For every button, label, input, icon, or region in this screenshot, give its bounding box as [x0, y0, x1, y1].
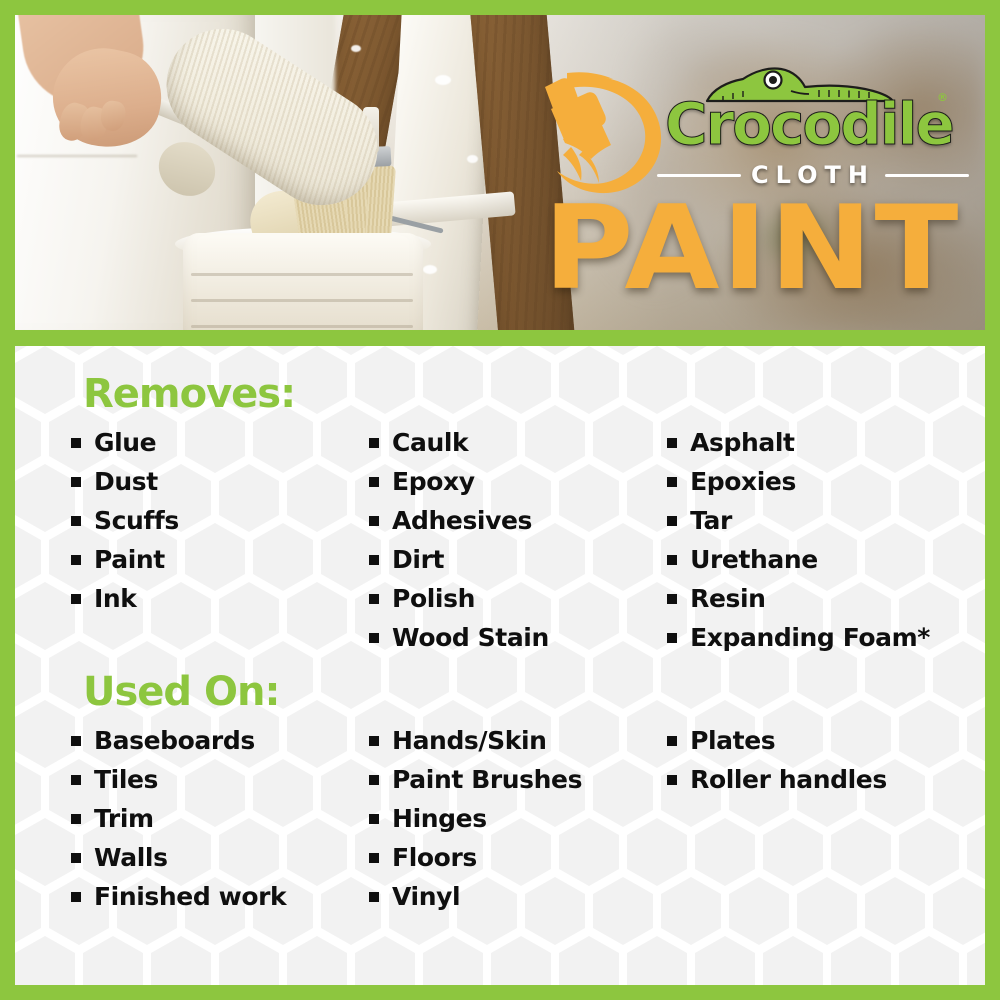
honeycomb-hex: [355, 953, 415, 985]
paint-splatter: [435, 75, 451, 85]
square-bullet-icon: [71, 555, 81, 565]
paint-splatter: [351, 45, 361, 52]
honeycomb-hex: [695, 953, 755, 985]
hero-banner: Crocodile ® CLOTH PAINT: [15, 15, 985, 330]
list-item-label: Hands/Skin: [392, 726, 547, 756]
section-removes: Removes:GlueDustScuffsPaintInkCaulkEpoxy…: [71, 370, 985, 662]
list-item: Dust: [71, 467, 369, 497]
crocodile-wordmark: Crocodile ® CLOTH: [665, 67, 965, 192]
section-columns: GlueDustScuffsPaintInkCaulkEpoxyAdhesive…: [71, 428, 985, 662]
square-bullet-icon: [71, 775, 81, 785]
honeycomb-hex: [831, 953, 891, 985]
list-item-label: Roller handles: [690, 765, 887, 795]
square-bullet-icon: [369, 594, 379, 604]
list-item-label: Trim: [94, 804, 154, 834]
product-title: PAINT: [514, 191, 986, 307]
list-item-label: Tar: [690, 506, 732, 536]
honeycomb-hex: [219, 953, 279, 985]
square-bullet-icon: [369, 633, 379, 643]
list-item: Floors: [369, 843, 667, 873]
list-item: Hinges: [369, 804, 667, 834]
list-item-label: Glue: [94, 428, 156, 458]
list-item: Paint Brushes: [369, 765, 667, 795]
rule-left: [657, 174, 741, 177]
list-item: Walls: [71, 843, 369, 873]
honeycomb-hex: [559, 953, 619, 985]
list-item: Ink: [71, 584, 369, 614]
square-bullet-icon: [667, 775, 677, 785]
list-item-label: Walls: [94, 843, 168, 873]
paint-bucket: [183, 233, 423, 330]
bucket-ring: [191, 273, 413, 276]
square-bullet-icon: [667, 555, 677, 565]
bucket-ring: [191, 325, 413, 328]
list-column: Hands/SkinPaint BrushesHingesFloorsVinyl: [369, 726, 667, 921]
list-item-label: Resin: [690, 584, 765, 614]
list-item: Vinyl: [369, 882, 667, 912]
list-item: Urethane: [667, 545, 985, 575]
list-item: Caulk: [369, 428, 667, 458]
list-item: Trim: [71, 804, 369, 834]
honeycomb-hex: [899, 953, 959, 985]
square-bullet-icon: [667, 438, 677, 448]
list-item: Asphalt: [667, 428, 985, 458]
square-bullet-icon: [369, 775, 379, 785]
honeycomb-hex: [83, 953, 143, 985]
square-bullet-icon: [667, 736, 677, 746]
square-bullet-icon: [667, 594, 677, 604]
honeycomb-hex: [287, 953, 347, 985]
square-bullet-icon: [369, 814, 379, 824]
content-panel: Removes:GlueDustScuffsPaintInkCaulkEpoxy…: [15, 346, 985, 985]
square-bullet-icon: [71, 736, 81, 746]
list-item: Resin: [667, 584, 985, 614]
brand-name: Crocodile: [665, 95, 965, 153]
square-bullet-icon: [667, 477, 677, 487]
list-item-label: Vinyl: [392, 882, 460, 912]
list-item-label: Baseboards: [94, 726, 255, 756]
honeycomb-hex: [15, 953, 75, 985]
square-bullet-icon: [71, 516, 81, 526]
list-item-label: Asphalt: [690, 428, 795, 458]
square-bullet-icon: [667, 633, 677, 643]
section-title: Used On:: [83, 668, 985, 716]
list-item: Paint: [71, 545, 369, 575]
list-item: Epoxies: [667, 467, 985, 497]
hero-divider: [15, 330, 985, 346]
square-bullet-icon: [369, 438, 379, 448]
square-bullet-icon: [369, 736, 379, 746]
list-item-label: Paint: [94, 545, 165, 575]
product-info-card: Crocodile ® CLOTH PAINT Removes:GlueDust…: [0, 0, 1000, 1000]
list-item: Dirt: [369, 545, 667, 575]
honeycomb-hex: [627, 953, 687, 985]
brand-logo-block: Crocodile ® CLOTH PAINT: [515, 59, 985, 324]
square-bullet-icon: [71, 814, 81, 824]
square-bullet-icon: [667, 516, 677, 526]
list-item-label: Paint Brushes: [392, 765, 582, 795]
list-item: Epoxy: [369, 467, 667, 497]
list-item-label: Wood Stain: [392, 623, 549, 653]
list-item: Tiles: [71, 765, 369, 795]
paintbrush-swoosh-icon: [521, 65, 671, 200]
list-column: AsphaltEpoxiesTarUrethaneResinExpanding …: [667, 428, 985, 662]
section-used-on: Used On:BaseboardsTilesTrimWallsFinished…: [71, 668, 985, 921]
list-item-label: Dust: [94, 467, 158, 497]
list-item-label: Epoxy: [392, 467, 475, 497]
list-item-label: Plates: [690, 726, 775, 756]
list-item-label: Expanding Foam*: [690, 623, 930, 653]
list-item-label: Hinges: [392, 804, 487, 834]
list-item-label: Caulk: [392, 428, 468, 458]
honeycomb-hex: [763, 953, 823, 985]
list-item-label: Finished work: [94, 882, 286, 912]
square-bullet-icon: [71, 892, 81, 902]
list-item-label: Floors: [392, 843, 477, 873]
list-item: Hands/Skin: [369, 726, 667, 756]
list-item-label: Scuffs: [94, 506, 179, 536]
list-item: Tar: [667, 506, 985, 536]
list-item: Scuffs: [71, 506, 369, 536]
sections-container: Removes:GlueDustScuffsPaintInkCaulkEpoxy…: [15, 346, 985, 921]
square-bullet-icon: [369, 853, 379, 863]
list-item: Plates: [667, 726, 985, 756]
square-bullet-icon: [71, 438, 81, 448]
list-item: Glue: [71, 428, 369, 458]
registered-trademark-icon: ®: [937, 91, 948, 104]
honeycomb-hex: [423, 953, 483, 985]
list-column: BaseboardsTilesTrimWallsFinished work: [71, 726, 369, 921]
square-bullet-icon: [71, 477, 81, 487]
bucket-ring: [191, 299, 413, 302]
list-item-label: Tiles: [94, 765, 158, 795]
square-bullet-icon: [369, 555, 379, 565]
list-item-label: Urethane: [690, 545, 818, 575]
list-item: Adhesives: [369, 506, 667, 536]
section-columns: BaseboardsTilesTrimWallsFinished workHan…: [71, 726, 985, 921]
list-item: Polish: [369, 584, 667, 614]
list-item: Roller handles: [667, 765, 985, 795]
list-column: PlatesRoller handles: [667, 726, 985, 921]
square-bullet-icon: [71, 594, 81, 604]
square-bullet-icon: [71, 853, 81, 863]
square-bullet-icon: [369, 477, 379, 487]
square-bullet-icon: [369, 516, 379, 526]
list-item: Expanding Foam*: [667, 623, 985, 653]
honeycomb-hex: [151, 953, 211, 985]
list-item-label: Epoxies: [690, 467, 796, 497]
list-item-label: Dirt: [392, 545, 444, 575]
list-item-label: Polish: [392, 584, 475, 614]
list-item: Baseboards: [71, 726, 369, 756]
list-column: GlueDustScuffsPaintInk: [71, 428, 369, 662]
honeycomb-hex: [491, 953, 551, 985]
paint-splatter: [423, 265, 437, 274]
list-item-label: Ink: [94, 584, 137, 614]
list-item: Finished work: [71, 882, 369, 912]
list-item-label: Adhesives: [392, 506, 532, 536]
list-column: CaulkEpoxyAdhesivesDirtPolishWood Stain: [369, 428, 667, 662]
square-bullet-icon: [369, 892, 379, 902]
list-item: Wood Stain: [369, 623, 667, 653]
rule-right: [885, 174, 969, 177]
honeycomb-hex: [967, 953, 985, 985]
section-title: Removes:: [83, 370, 985, 418]
